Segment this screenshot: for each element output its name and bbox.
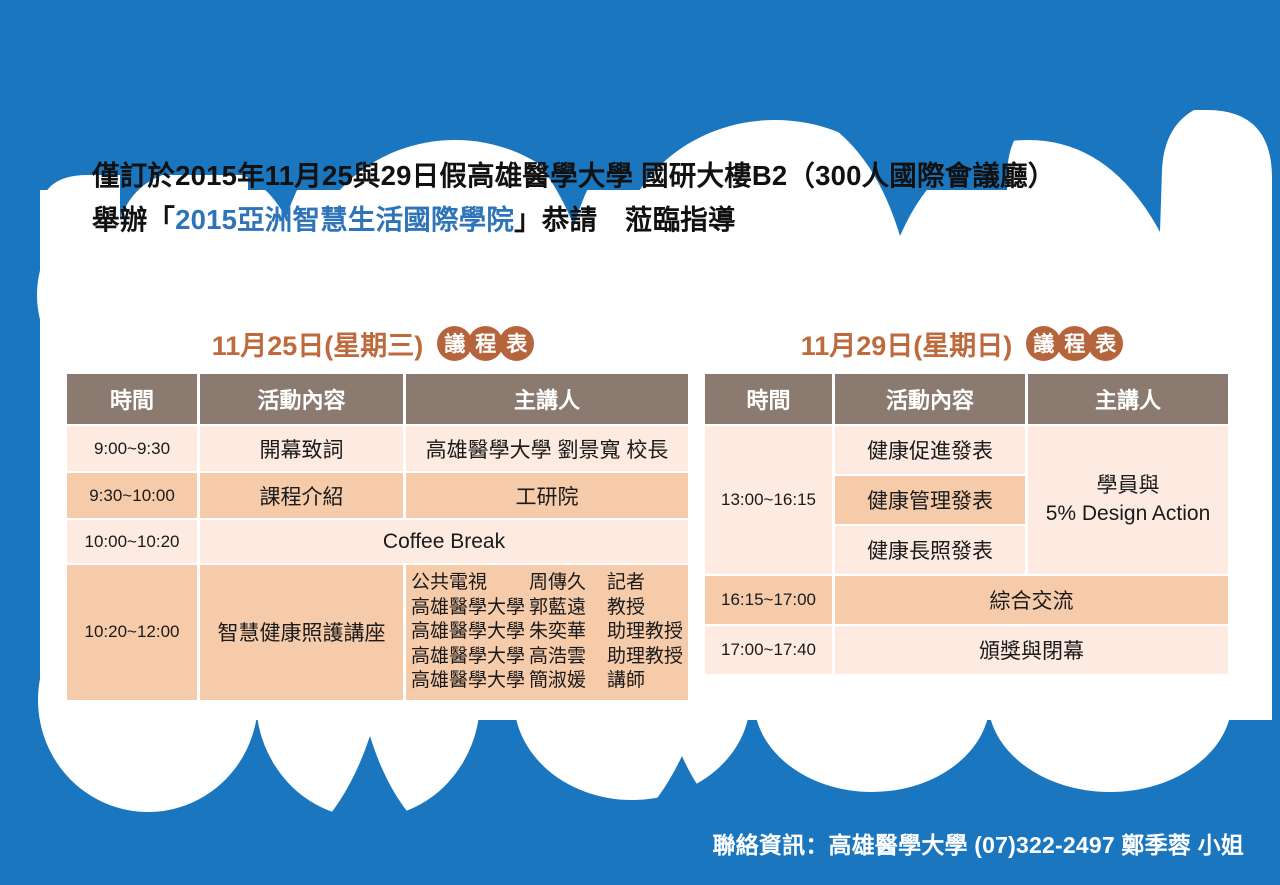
contact-info: 聯絡資訊：高雄醫學大學 (07)322-2497 鄭季蓉 小姐: [713, 826, 1244, 860]
speaker-name: 郭藍遠: [529, 596, 607, 621]
cell-speaker-list: 公共電視周傳久記者 高雄醫學大學郭藍遠教授 高雄醫學大學朱奕華助理教授 高雄醫學…: [406, 565, 688, 700]
list-item: 公共電視周傳久記者: [411, 572, 645, 593]
table-header-row: 時間 活動內容 主講人: [705, 374, 1228, 424]
table-header-row: 時間 活動內容 主講人: [67, 374, 688, 424]
cell-content: 智慧健康照護講座: [200, 565, 403, 700]
cell-subcontent: 健康促進發表: [835, 426, 1025, 474]
headline-block: 僅訂於2015年11月25與29日假高雄醫學大學 國研大樓B2（300人國際會議…: [92, 155, 1202, 241]
speaker-org: 高雄醫學大學: [411, 620, 529, 645]
speaker-name: 朱奕華: [529, 620, 607, 645]
table-row: 10:20~12:00 智慧健康照護講座 公共電視周傳久記者 高雄醫學大學郭藍遠…: [67, 565, 688, 700]
cell-speaker: 高雄醫學大學 劉景寬 校長: [406, 426, 688, 471]
speaker-name: 高浩雲: [529, 645, 607, 670]
speaker-org: 高雄醫學大學: [411, 645, 529, 670]
cell-time: 10:00~10:20: [67, 520, 197, 563]
list-item: 高雄醫學大學郭藍遠教授: [411, 597, 645, 618]
headline-line-2: 舉辦「2015亞洲智慧生活國際學院」恭請 蒞臨指導: [92, 199, 1202, 241]
schedule-table-nov25: 時間 活動內容 主講人 9:00~9:30 開幕致詞 高雄醫學大學 劉景寬 校長…: [64, 372, 691, 702]
cell-time: 9:30~10:00: [67, 473, 197, 518]
badge-dot-icon-3: 表: [499, 326, 534, 361]
speaker-org: 公共電視: [411, 571, 529, 596]
cell-content-merged: 頒獎與閉幕: [835, 626, 1228, 674]
speaker-name: 周傳久: [529, 571, 607, 596]
headline-highlight: 2015亞洲智慧生活國際學院: [175, 204, 514, 235]
speaker-role: 教授: [607, 596, 645, 621]
agenda-badge-nov29: 議 程 表: [1026, 326, 1123, 361]
cell-speaker: 工研院: [406, 473, 688, 518]
speaker-role: 助理教授: [607, 620, 683, 645]
column-header-speaker: 主講人: [1028, 374, 1228, 424]
schedule-date-nov29: 11月29日(星期日): [801, 324, 1013, 363]
badge-dot-icon-1: 議: [1026, 326, 1061, 361]
speaker-line-1: 學員與: [1097, 474, 1160, 497]
cell-speaker: 學員與 5% Design Action: [1028, 426, 1228, 574]
speaker-role: 助理教授: [607, 645, 683, 670]
list-item: 高雄醫學大學高浩雲助理教授: [411, 646, 683, 667]
schedule-date-nov25: 11月25日(星期三): [212, 324, 424, 363]
schedule-block-nov29: 11月29日(星期日) 議 程 表 時間 活動內容 主講人: [702, 320, 1222, 676]
table-row: 17:00~17:40 頒獎與閉幕: [705, 626, 1228, 674]
cell-subcontent: 健康管理發表: [835, 476, 1025, 524]
cell-content: 課程介紹: [200, 473, 403, 518]
list-item: 高雄醫學大學朱奕華助理教授: [411, 621, 683, 642]
column-header-time: 時間: [705, 374, 832, 424]
cell-time: 13:00~16:15: [705, 426, 832, 574]
cell-time: 16:15~17:00: [705, 576, 832, 624]
speaker-role: 講師: [607, 669, 645, 694]
badge-dot-icon-1: 議: [437, 326, 472, 361]
cell-content: 開幕致詞: [200, 426, 403, 471]
column-header-content: 活動內容: [200, 374, 403, 424]
table-row: 9:00~9:30 開幕致詞 高雄醫學大學 劉景寬 校長: [67, 426, 688, 471]
headline-suffix: 」恭請 蒞臨指導: [514, 204, 736, 235]
headline-prefix: 舉辦「: [92, 204, 175, 235]
list-item: 高雄醫學大學簡淑媛講師: [411, 670, 645, 691]
column-header-time: 時間: [67, 374, 197, 424]
badge-dot-icon-3: 表: [1088, 326, 1123, 361]
agenda-badge-nov25: 議 程 表: [437, 326, 534, 361]
table-row: 9:30~10:00 課程介紹 工研院: [67, 473, 688, 518]
cell-time: 10:20~12:00: [67, 565, 197, 700]
speaker-role: 記者: [607, 571, 645, 596]
column-header-content: 活動內容: [835, 374, 1025, 424]
table-row: 16:15~17:00 綜合交流: [705, 576, 1228, 624]
speaker-list: 公共電視周傳久記者 高雄醫學大學郭藍遠教授 高雄醫學大學朱奕華助理教授 高雄醫學…: [411, 565, 683, 700]
column-header-speaker: 主講人: [406, 374, 688, 424]
schedule-title-nov29: 11月29日(星期日) 議 程 表: [702, 320, 1222, 366]
speaker-name: 簡淑媛: [529, 669, 607, 694]
schedule-table-nov29: 時間 活動內容 主講人 13:00~16:15 健康促進發表 學員與 5% De…: [702, 372, 1231, 676]
table-row: 10:00~10:20 Coffee Break: [67, 520, 688, 563]
cell-subcontent: 健康長照發表: [835, 526, 1025, 574]
badge-dot-icon-2: 程: [468, 326, 503, 361]
cell-content-merged: Coffee Break: [200, 520, 688, 563]
schedule-block-nov25: 11月25日(星期三) 議 程 表 時間 活動內容 主講人: [64, 320, 682, 702]
headline-line-1: 僅訂於2015年11月25與29日假高雄醫學大學 國研大樓B2（300人國際會議…: [92, 155, 1202, 197]
poster-canvas: 僅訂於2015年11月25與29日假高雄醫學大學 國研大樓B2（300人國際會議…: [0, 0, 1280, 880]
cell-time: 9:00~9:30: [67, 426, 197, 471]
speaker-org: 高雄醫學大學: [411, 669, 529, 694]
table-row: 13:00~16:15 健康促進發表 學員與 5% Design Action: [705, 426, 1228, 474]
speaker-line-2: 5% Design Action: [1046, 502, 1211, 525]
schedule-title-nov25: 11月25日(星期三) 議 程 表: [64, 320, 682, 366]
speaker-org: 高雄醫學大學: [411, 596, 529, 621]
badge-dot-icon-2: 程: [1057, 326, 1092, 361]
cell-content-merged: 綜合交流: [835, 576, 1228, 624]
cell-time: 17:00~17:40: [705, 626, 832, 674]
